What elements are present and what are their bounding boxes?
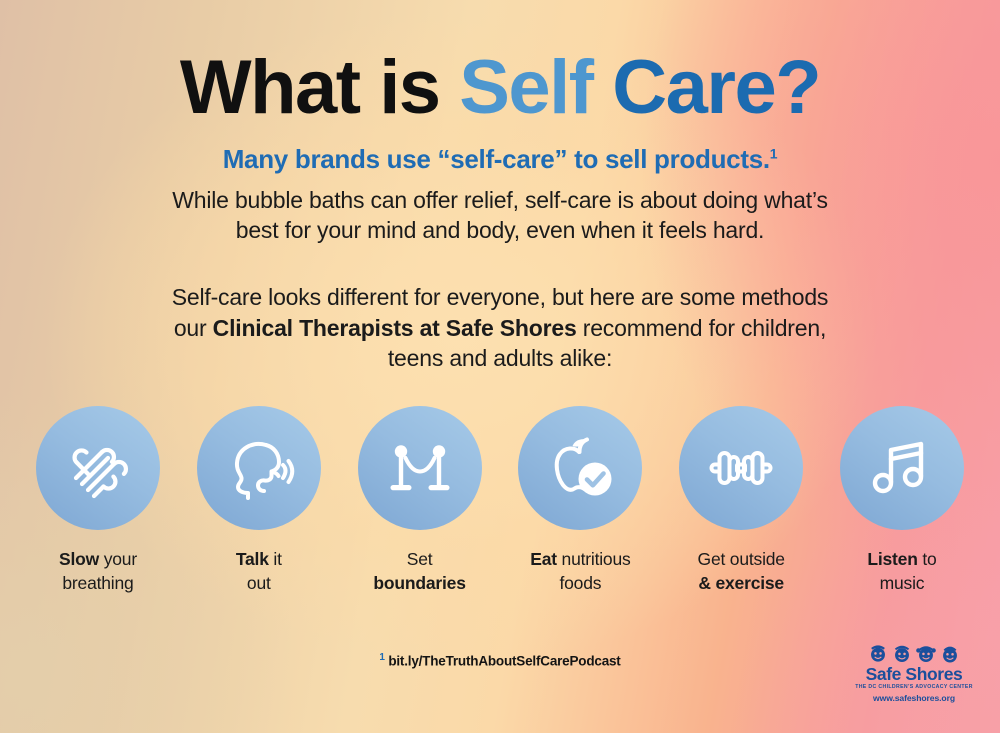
clinical-therapists-emphasis: Clinical Therapists at Safe Shores (213, 315, 577, 341)
methods-intro-line-2-post: recommend for children, (577, 315, 827, 341)
method-item-get-outside-exercise[interactable]: Get outside & exercise (677, 406, 805, 595)
methods-intro-line-1: Self-care looks different for everyone, … (172, 284, 828, 310)
title-part-care: Care? (593, 45, 821, 130)
method-label-line2-0: breathing (62, 573, 133, 593)
apple-check-icon (543, 431, 617, 505)
method-item-set-boundaries[interactable]: Set boundaries (356, 406, 484, 595)
method-label-rest-4: Get outside (698, 549, 785, 569)
subheading: Many brands use “self-care” to sell prod… (0, 144, 1000, 175)
rope-barrier-icon-badge (358, 406, 482, 530)
method-label-rest-0: your (99, 549, 137, 569)
method-label-eat-nutritious: Eat nutritious foods (530, 547, 630, 595)
rope-barrier-icon (384, 432, 456, 504)
infographic-page: What is Self Care? Many brands use “self… (0, 0, 1000, 733)
intro-line-2: best for your mind and body, even when i… (236, 217, 765, 243)
method-label-slow-breathing: Slow your breathing (59, 547, 137, 595)
method-label-bold-5: Listen (867, 549, 917, 569)
child-face-icon-2 (891, 642, 913, 664)
intro-paragraph: While bubble baths can offer relief, sel… (0, 185, 1000, 246)
logo-url[interactable]: www.safeshores.org (850, 693, 978, 703)
dumbbell-icon (704, 431, 778, 505)
dumbbell-icon-badge (679, 406, 803, 530)
wind-icon (62, 432, 134, 504)
music-note-icon-badge (840, 406, 964, 530)
method-label-line2-3: foods (559, 573, 601, 593)
talking-head-icon-badge (197, 406, 321, 530)
methods-intro-line-2-pre: our (174, 315, 213, 341)
title-part-what-is: What is (180, 45, 459, 130)
self-care-methods-row: Slow your breathing Talk it out (0, 406, 1000, 595)
child-face-icon-4 (939, 642, 961, 664)
method-label-line2-4: & exercise (698, 573, 784, 593)
method-label-rest-1: it (269, 549, 282, 569)
intro-line-1: While bubble baths can offer relief, sel… (172, 187, 828, 213)
method-label-listen-to-music: Listen to music (867, 547, 936, 595)
method-item-slow-breathing[interactable]: Slow your breathing (34, 406, 162, 595)
method-label-bold-0: Slow (59, 549, 99, 569)
music-note-icon (867, 433, 937, 503)
method-item-eat-nutritious[interactable]: Eat nutritious foods (516, 406, 644, 595)
subheading-text: Many brands use “self-care” to sell prod… (223, 144, 770, 174)
method-label-line2-2: boundaries (373, 573, 465, 593)
method-label-set-boundaries: Set boundaries (373, 547, 465, 595)
footnote-marker: 1 (379, 652, 384, 663)
method-label-talk-it-out: Talk it out (236, 547, 282, 595)
method-label-rest-3: nutritious (557, 549, 631, 569)
methods-intro-paragraph: Self-care looks different for everyone, … (0, 282, 1000, 374)
method-label-get-outside-exercise: Get outside & exercise (698, 547, 785, 595)
method-item-listen-to-music[interactable]: Listen to music (838, 406, 966, 595)
wind-icon-badge (36, 406, 160, 530)
method-label-bold-3: Eat (530, 549, 557, 569)
footnote-link-text[interactable]: bit.ly/TheTruthAboutSelfCarePodcast (388, 654, 620, 669)
method-label-rest-2: Set (407, 549, 433, 569)
method-label-bold-1: Talk (236, 549, 269, 569)
methods-intro-line-3: teens and adults alike: (388, 345, 612, 371)
subheading-footnote-marker: 1 (770, 145, 778, 161)
method-label-line2-1: out (247, 573, 271, 593)
child-face-icon-1 (867, 642, 889, 664)
talking-head-icon (222, 431, 296, 505)
page-title: What is Self Care? (0, 0, 1000, 128)
child-face-icon-3 (915, 642, 937, 664)
logo-name: Safe Shores (850, 665, 978, 683)
apple-check-icon-badge (518, 406, 642, 530)
safe-shores-logo[interactable]: Safe Shores THE DC CHILDREN’S ADVOCACY C… (850, 642, 978, 703)
method-item-talk-it-out[interactable]: Talk it out (195, 406, 323, 595)
title-part-self: Self (459, 45, 592, 130)
method-label-rest-5: to (918, 549, 937, 569)
logo-tagline: THE DC CHILDREN’S ADVOCACY CENTER (850, 684, 978, 690)
logo-faces-group (850, 642, 978, 664)
method-label-line2-5: music (880, 573, 925, 593)
